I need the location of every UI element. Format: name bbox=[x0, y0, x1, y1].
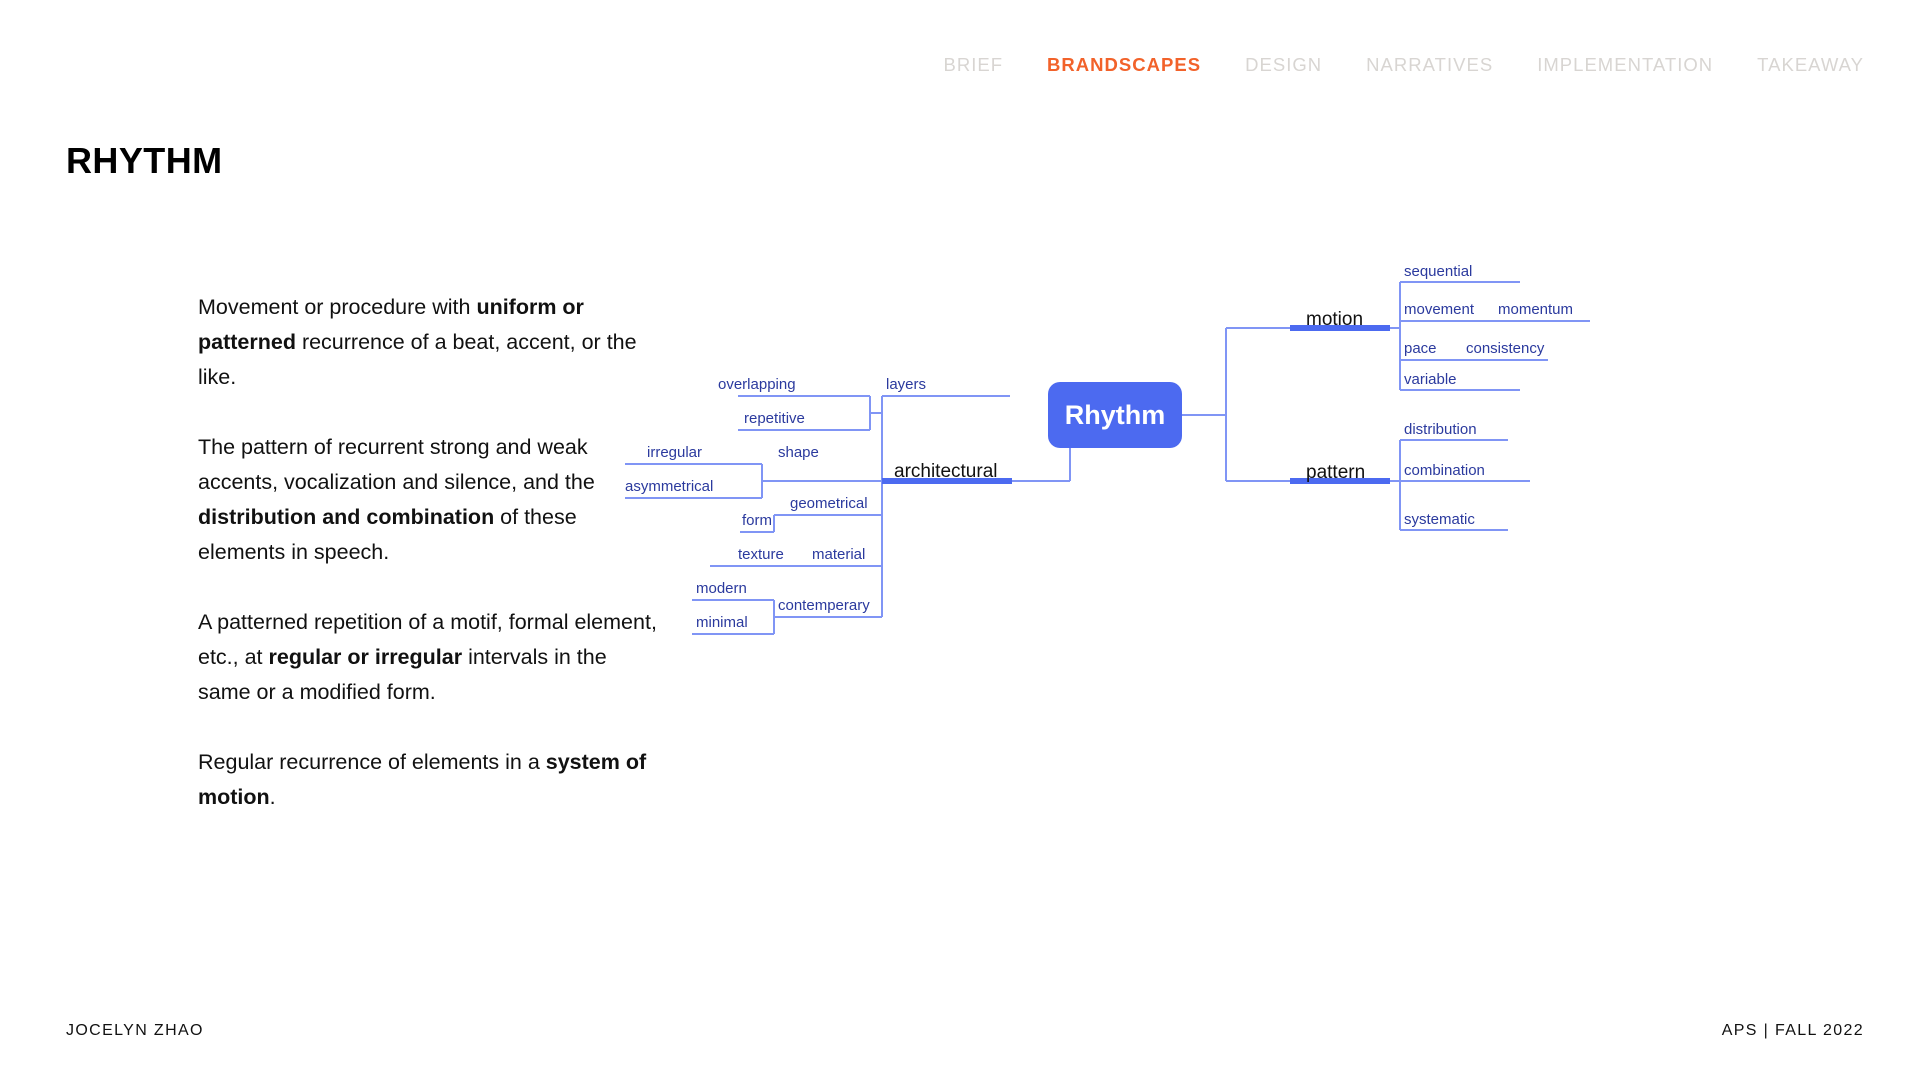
mindmap-leaf-texture[interactable]: texture bbox=[738, 547, 784, 562]
body-copy: Movement or procedure with uniform or pa… bbox=[198, 290, 658, 850]
mindmap-leaf-contemperary[interactable]: contemperary bbox=[778, 598, 870, 613]
rhythm-mindmap: Rhythm architectural motion pattern over… bbox=[730, 320, 1890, 750]
mindmap-leaf-irregular[interactable]: irregular bbox=[647, 445, 702, 460]
mindmap-leaf-layers[interactable]: layers bbox=[886, 377, 926, 392]
paragraph-1: Movement or procedure with uniform or pa… bbox=[198, 290, 658, 395]
mindmap-leaf-momentum[interactable]: momentum bbox=[1498, 302, 1573, 317]
nav-item-brandscapes[interactable]: BRANDSCAPES bbox=[1047, 54, 1201, 76]
paragraph-3: A patterned repetition of a motif, forma… bbox=[198, 605, 658, 710]
nav-item-takeaway[interactable]: TAKEAWAY bbox=[1757, 54, 1864, 76]
mindmap-leaf-material[interactable]: material bbox=[812, 547, 865, 562]
paragraph-2: The pattern of recurrent strong and weak… bbox=[198, 430, 658, 570]
mindmap-leaf-form[interactable]: form bbox=[742, 513, 772, 528]
top-navigation: BRIEF BRANDSCAPES DESIGN NARRATIVES IMPL… bbox=[943, 54, 1864, 76]
mindmap-leaf-asymmetrical[interactable]: asymmetrical bbox=[625, 479, 713, 494]
nav-item-implementation[interactable]: IMPLEMENTATION bbox=[1537, 54, 1713, 76]
mindmap-branch-motion[interactable]: motion bbox=[1306, 310, 1363, 329]
mindmap-leaf-sequential[interactable]: sequential bbox=[1404, 264, 1472, 279]
nav-item-design[interactable]: DESIGN bbox=[1245, 54, 1322, 76]
mindmap-leaf-movement[interactable]: movement bbox=[1404, 302, 1474, 317]
nav-item-narratives[interactable]: NARRATIVES bbox=[1366, 54, 1493, 76]
nav-item-brief[interactable]: BRIEF bbox=[943, 54, 1003, 76]
page-title: RHYTHM bbox=[66, 140, 223, 182]
footer-author: JOCELYN ZHAO bbox=[66, 1022, 204, 1040]
mindmap-leaf-modern[interactable]: modern bbox=[696, 581, 747, 596]
mindmap-leaf-combination[interactable]: combination bbox=[1404, 463, 1485, 478]
paragraph-4: Regular recurrence of elements in a syst… bbox=[198, 745, 658, 815]
mindmap-leaf-repetitive[interactable]: repetitive bbox=[744, 411, 805, 426]
mindmap-leaf-systematic[interactable]: systematic bbox=[1404, 512, 1475, 527]
mindmap-leaf-shape[interactable]: shape bbox=[778, 445, 819, 460]
mindmap-leaf-variable[interactable]: variable bbox=[1404, 372, 1457, 387]
slide-canvas: BRIEF BRANDSCAPES DESIGN NARRATIVES IMPL… bbox=[0, 0, 1920, 1080]
mindmap-leaf-minimal[interactable]: minimal bbox=[696, 615, 748, 630]
mindmap-leaf-pace[interactable]: pace bbox=[1404, 341, 1437, 356]
mindmap-leaf-distribution[interactable]: distribution bbox=[1404, 422, 1477, 437]
mindmap-leaf-consistency[interactable]: consistency bbox=[1466, 341, 1544, 356]
mindmap-leaf-geometrical[interactable]: geometrical bbox=[790, 496, 868, 511]
mindmap-branch-architectural[interactable]: architectural bbox=[894, 462, 998, 481]
mindmap-leaf-overlapping[interactable]: overlapping bbox=[718, 377, 796, 392]
mindmap-core-node[interactable]: Rhythm bbox=[1048, 382, 1182, 448]
footer-course: APS | FALL 2022 bbox=[1722, 1022, 1864, 1040]
mindmap-branch-pattern[interactable]: pattern bbox=[1306, 463, 1365, 482]
